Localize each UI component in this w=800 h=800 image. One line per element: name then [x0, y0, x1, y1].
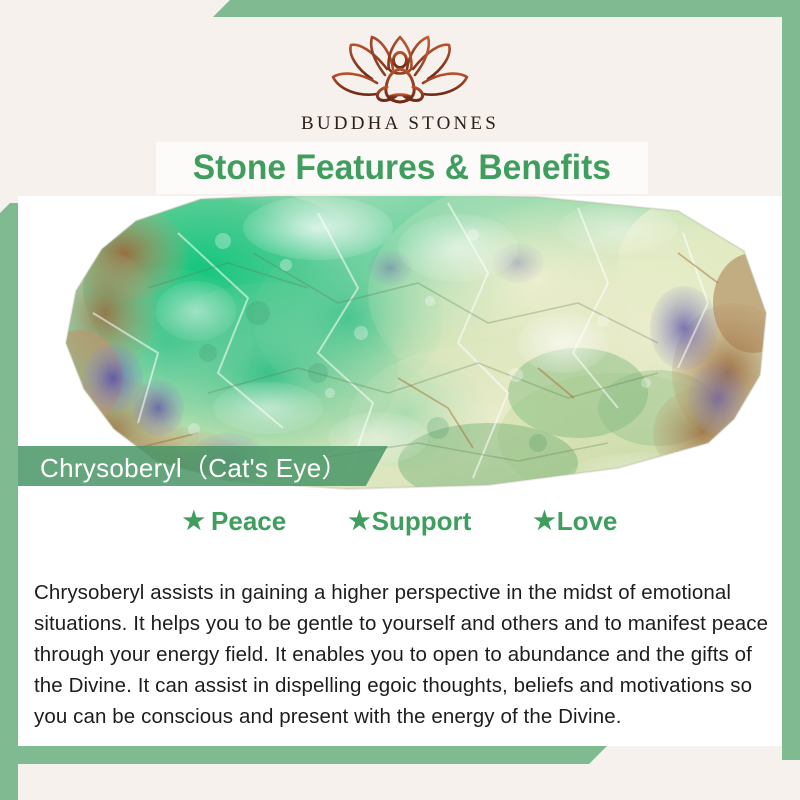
page-title-strip: Stone Features & Benefits	[156, 142, 648, 194]
stone-name-banner: Chrysoberyl（Cat's Eye）	[18, 446, 388, 486]
star-icon: ★	[183, 509, 205, 534]
benefit-item-support: ★ Support	[348, 506, 471, 537]
benefit-label: Love	[557, 506, 618, 537]
brand-name: BUDDHA STONES	[301, 113, 499, 135]
frame-band-bottom	[0, 746, 607, 764]
benefit-item-peace: ★ Peace	[183, 506, 287, 537]
frame-band-left	[0, 203, 18, 800]
star-icon: ★	[533, 509, 555, 534]
stone-description: Chrysoberyl assists in gaining a higher …	[34, 577, 770, 732]
brand-logo: BUDDHA STONES	[301, 31, 499, 135]
benefit-label: Peace	[211, 506, 286, 537]
content-card: Chrysoberyl（Cat's Eye） ★ Peace ★ Support…	[18, 196, 782, 746]
stone-name: Chrysoberyl（Cat's Eye）	[40, 448, 348, 485]
lotus-meditation-figure-icon	[325, 31, 475, 111]
frame-band-right	[782, 0, 800, 760]
frame-band-top	[213, 0, 800, 17]
benefit-label: Support	[372, 506, 472, 537]
benefit-item-love: ★ Love	[533, 506, 617, 537]
star-icon: ★	[348, 509, 370, 534]
benefits-list: ★ Peace ★ Support ★ Love	[18, 506, 782, 537]
stone-photo: Chrysoberyl（Cat's Eye）	[18, 196, 782, 494]
stone-info-poster: BUDDHA STONES Stone Features & Benefits	[0, 0, 800, 800]
page-title: Stone Features & Benefits	[193, 148, 611, 188]
